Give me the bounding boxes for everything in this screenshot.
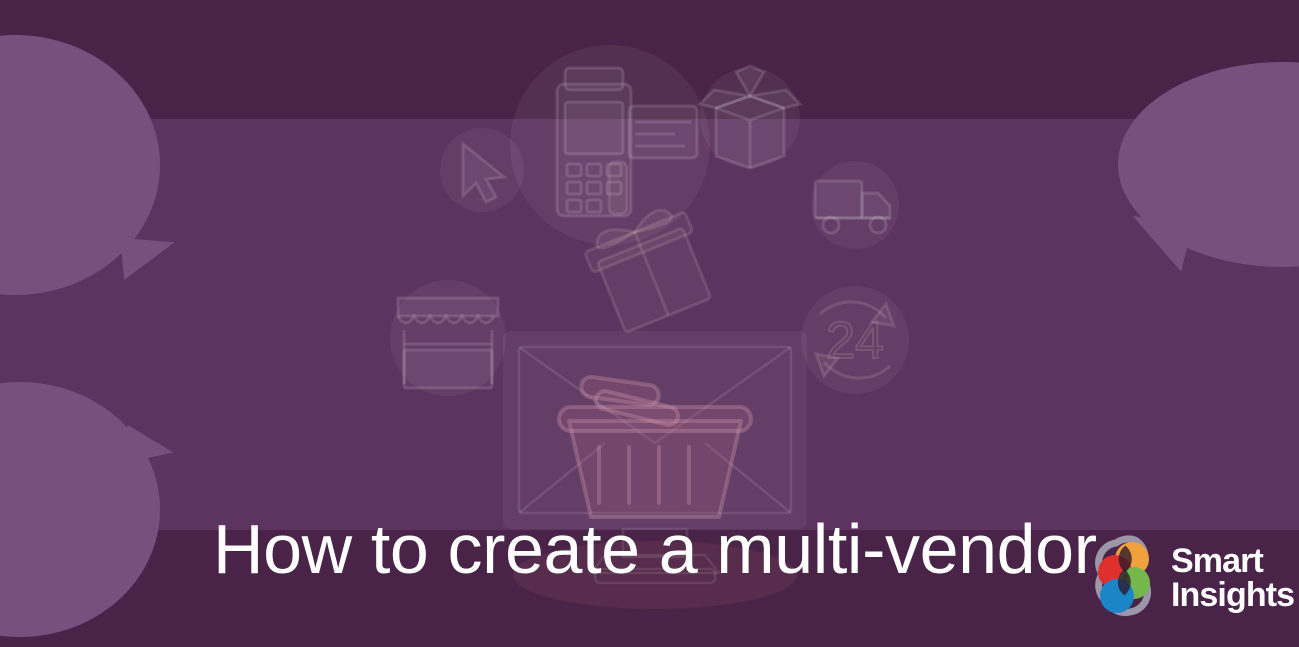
banner-title-line-1: How to create a multi-vendor [213,495,1133,603]
wordmark-line-2: Insights [1171,578,1294,612]
wordmark-line-1: Smart [1171,544,1294,578]
smart-insights-wordmark: Smart Insights [1171,544,1294,612]
smart-insights-logo[interactable]: Smart Insights [1089,533,1284,623]
open-box-icon [690,60,810,185]
banner-image: 24 How to create a multi-vendor ecommerc… [0,0,1299,647]
smart-insights-logo-mark [1089,534,1161,622]
banner-title: How to create a multi-vendor ecommerce s… [213,279,1133,647]
delivery-truck-icon [800,155,910,255]
cursor-arrow-icon [432,120,532,220]
